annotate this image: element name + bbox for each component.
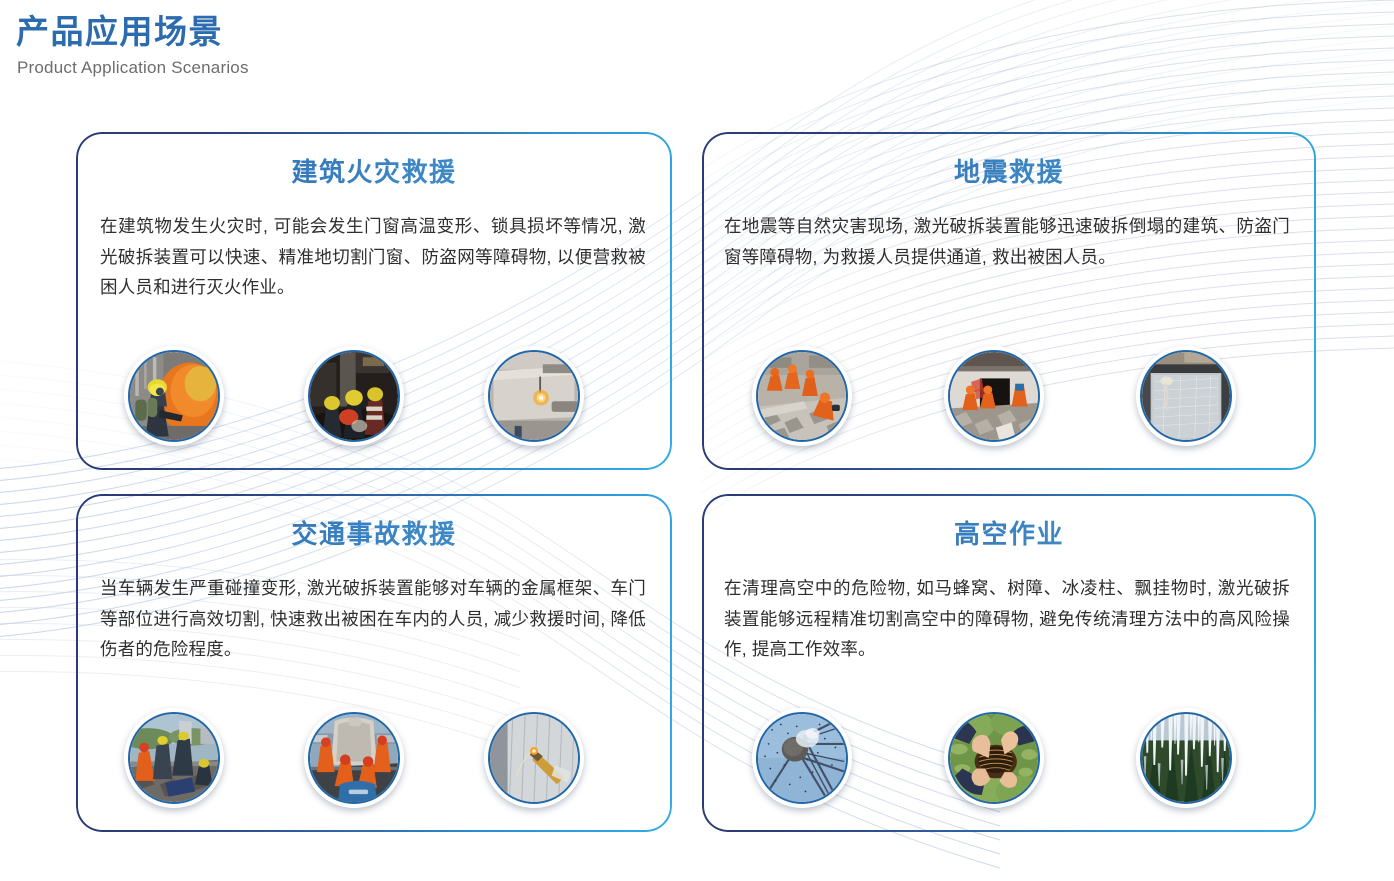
photo-ring (1140, 712, 1232, 804)
card-description: 当车辆发生严重碰撞变形, 激光破拆装置能够对车辆的金属框架、车门等部位进行高效切… (100, 573, 646, 665)
card-photo-strip (702, 708, 1316, 812)
hornet-nest-on-power-line-photo (752, 708, 852, 808)
scenario-card-traffic-accident-rescue[interactable]: 交通事故救援 当车辆发生严重碰撞变形, 激光破拆装置能够对车辆的金属框架、车门等… (76, 494, 672, 832)
page-title: 产品应用场景 (16, 14, 249, 50)
card-photo-strip (76, 346, 672, 450)
scenario-card-aerial-work[interactable]: 高空作业 在清理高空中的危险物, 如马蜂窝、树障、冰凌柱、飘挂物时, 激光破拆装… (702, 494, 1316, 832)
photo-ring (488, 712, 580, 804)
photo-ring (948, 350, 1040, 442)
card-title: 交通事故救援 (76, 514, 672, 551)
laser-cutting-metal-pillar-photo (484, 708, 584, 808)
card-description: 在清理高空中的危险物, 如马蜂窝、树障、冰凌柱、飘挂物时, 激光破拆装置能够远程… (724, 573, 1290, 665)
hands-holding-hornet-nest-photo (944, 708, 1044, 808)
card-title: 建筑火灾救援 (76, 152, 672, 189)
photo-ring (1140, 350, 1232, 442)
icicles-on-trees-photo (1136, 708, 1236, 808)
scenario-card-earthquake-rescue[interactable]: 地震救援 在地震等自然灾害现场, 激光破拆装置能够迅速破拆倒塌的建筑、防盗门窗等… (702, 132, 1316, 470)
photo-ring (308, 712, 400, 804)
photo-ring (488, 350, 580, 442)
card-title: 高空作业 (702, 514, 1316, 551)
card-description: 在建筑物发生火灾时, 可能会发生门窗高温变形、锁具损坏等情况, 激光破拆装置可以… (100, 211, 646, 303)
application-scenarios-page: 产品应用场景 Product Application Scenarios 建筑火… (0, 0, 1394, 881)
card-description: 在地震等自然灾害现场, 激光破拆装置能够迅速破拆倒塌的建筑、防盗门窗等障碍物, … (724, 211, 1290, 272)
photo-ring (308, 350, 400, 442)
page-header: 产品应用场景 Product Application Scenarios (16, 14, 249, 78)
photo-ring (948, 712, 1040, 804)
card-photo-strip (76, 708, 672, 812)
photo-ring (128, 712, 220, 804)
card-title: 地震救援 (702, 152, 1316, 189)
photo-ring (756, 350, 848, 442)
card-photo-strip (702, 346, 1316, 450)
firefighter-spraying-flames-photo (124, 346, 224, 446)
rescuers-on-rubble-photo (752, 346, 852, 446)
laser-cutting-concrete-block-photo (484, 346, 584, 446)
firefighters-in-smoke-corridor-photo (304, 346, 404, 446)
page-subtitle: Product Application Scenarios (17, 58, 249, 78)
scenario-card-building-fire-rescue[interactable]: 建筑火灾救援 在建筑物发生火灾时, 可能会发生门窗高温变形、锁具损坏等情况, 激… (76, 132, 672, 470)
scenario-card-grid: 建筑火灾救援 在建筑物发生火灾时, 可能会发生门窗高温变形、锁具损坏等情况, 激… (0, 0, 1394, 881)
car-roof-removal-drill-photo (304, 708, 404, 808)
photo-ring (128, 350, 220, 442)
roadside-vehicle-rescue-photo (124, 708, 224, 808)
collapsed-building-entry-photo (944, 346, 1044, 446)
photo-ring (756, 712, 848, 804)
shattered-window-frame-photo (1136, 346, 1236, 446)
